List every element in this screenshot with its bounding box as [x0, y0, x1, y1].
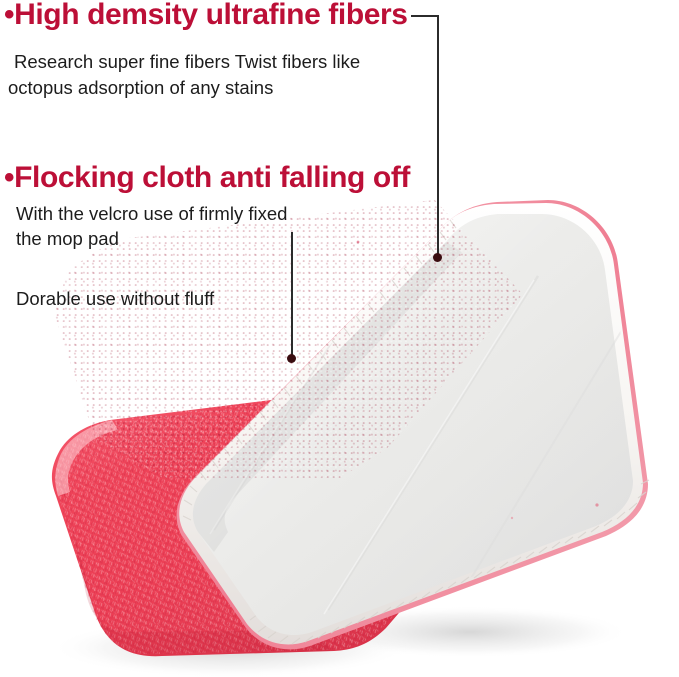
callout-heading-high-density: •High demsity ultrafine fibers	[4, 0, 408, 32]
callout-body-flocking-line1: With the velcro use of firmly fixed	[16, 201, 287, 226]
callout-body-high-density-line2: octopus adsorption of any stains	[8, 75, 273, 100]
mop-pad-photo	[0, 180, 679, 677]
fabric-fleck-3	[511, 517, 513, 519]
bullet-icon-high-density: •	[4, 0, 14, 31]
fabric-fleck-1	[357, 241, 360, 244]
leader-line-vertical-flocking	[291, 232, 293, 362]
velcro-white-side	[177, 200, 649, 649]
callout-body-high-density-line1: Research super fine fibers Twist fibers …	[14, 49, 360, 74]
infographic-canvas: •High demsity ultrafine fibers Research …	[0, 0, 679, 677]
leader-dot-velcro-edge	[433, 253, 442, 262]
callout-heading-flocking: •Flocking cloth anti falling off	[4, 161, 410, 195]
callout-note-durable: Dorable use without fluff	[16, 286, 214, 311]
callout-heading-text-high-density: High demsity ultrafine fibers	[14, 0, 407, 31]
leader-dot-microfiber-pile	[287, 354, 296, 363]
leader-line-vertical-high-density	[437, 15, 439, 260]
fabric-fleck-2	[595, 503, 598, 506]
leader-line-horizontal-high-density	[411, 15, 439, 17]
callout-heading-text-flocking: Flocking cloth anti falling off	[14, 161, 410, 194]
callout-body-flocking-line2: the mop pad	[16, 226, 119, 251]
bullet-icon-flocking: •	[4, 161, 14, 194]
